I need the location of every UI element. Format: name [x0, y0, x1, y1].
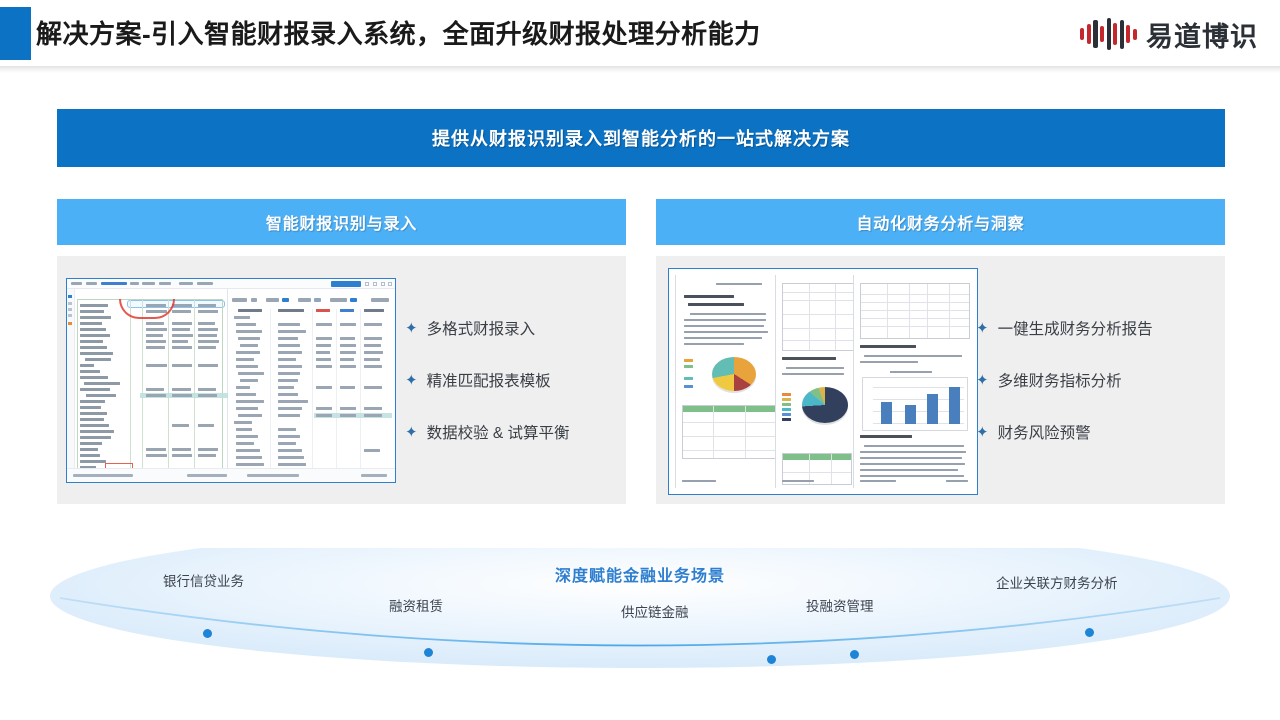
scenario-dot [1085, 628, 1094, 637]
app-status-bar [67, 468, 395, 482]
logo-text: 易道博识 [1146, 15, 1258, 54]
report-page-2 [775, 275, 854, 488]
column-analysis-body: ✦ 一健生成财务分析报告 ✦ 多维财务指标分析 ✦ 财务风险预警 [656, 256, 1225, 504]
report-table-4 [860, 283, 970, 339]
bar [927, 394, 938, 424]
scenario-label-supply-chain: 供应链金融 [621, 601, 689, 621]
scenario-label-investment: 投融资管理 [806, 595, 874, 615]
legend-swatch [782, 403, 791, 406]
legend-swatch [684, 377, 693, 380]
slide-root: 解决方案-引入智能财报录入系统，全面升级财报处理分析能力 易道博识 提供从财报识… [0, 0, 1280, 720]
statement-grid [77, 299, 223, 469]
source-document-pane [67, 289, 228, 483]
scenario-dot [203, 629, 212, 638]
bar [881, 402, 892, 424]
page-title: 解决方案-引入智能财报录入系统，全面升级财报处理分析能力 [36, 14, 936, 51]
page-thumbnail-rail[interactable] [67, 289, 75, 483]
recognition-feature-list: ✦ 多格式财报录入 ✦ 精准匹配报表模板 ✦ 数据校验 & 试算平衡 [405, 256, 570, 504]
list-item: ✦ 精准匹配报表模板 [405, 369, 570, 391]
result-filter-bar[interactable] [232, 298, 391, 304]
bar-chart-total-assets [862, 377, 968, 431]
header-accent-bar [0, 7, 31, 60]
result-table [232, 309, 391, 473]
logo-bars-icon [1080, 17, 1137, 51]
legend-swatch [684, 359, 693, 362]
diamond-bullet-icon: ✦ [976, 425, 989, 440]
legend-swatch [782, 413, 791, 416]
feature-label: 一健生成财务分析报告 [998, 317, 1153, 339]
bar [949, 387, 960, 424]
diamond-bullet-icon: ✦ [405, 425, 418, 440]
report-table-1 [682, 405, 776, 459]
list-item: ✦ 多格式财报录入 [405, 317, 570, 339]
solution-banner: 提供从财报识别录入到智能分析的一站式解决方案 [57, 109, 1225, 167]
list-item: ✦ 数据校验 & 试算平衡 [405, 421, 570, 443]
report-page-1 [675, 275, 776, 488]
diamond-bullet-icon: ✦ [976, 321, 989, 336]
feature-label: 精准匹配报表模板 [427, 369, 551, 391]
structured-result-pane [228, 289, 395, 483]
app-toolbar [67, 279, 395, 289]
legend-swatch [782, 418, 791, 421]
legend-swatch [782, 398, 791, 401]
list-item: ✦ 财务风险预警 [976, 421, 1153, 443]
report-table-2 [782, 283, 854, 351]
column-analysis-title: 自动化财务分析与洞察 [856, 210, 1024, 234]
scenario-label-leasing: 融资租赁 [389, 595, 443, 615]
report-page-3 [853, 275, 974, 488]
list-item: ✦ 一健生成财务分析报告 [976, 317, 1153, 339]
feature-label: 多维财务指标分析 [998, 369, 1122, 391]
slide-header: 解决方案-引入智能财报录入系统，全面升级财报处理分析能力 易道博识 [0, 0, 1280, 68]
legend-swatch [782, 408, 791, 411]
scenario-arc-section: 深度赋能金融业务场景 银行信贷业务 融资租赁 供应链金融 投融资管理 企业关联方… [0, 548, 1280, 678]
diamond-bullet-icon: ✦ [405, 373, 418, 388]
legend-swatch [782, 393, 791, 396]
diamond-bullet-icon: ✦ [405, 321, 418, 336]
legend-swatch [684, 365, 693, 368]
scenario-label-bank-credit: 银行信贷业务 [163, 570, 244, 590]
feature-label: 多格式财报录入 [427, 317, 536, 339]
column-recognition: 智能财报识别与录入 [57, 199, 626, 504]
pie-chart-current-assets [802, 387, 848, 423]
bar [905, 405, 916, 424]
app-primary-button[interactable] [331, 281, 361, 287]
feature-label: 数据校验 & 试算平衡 [427, 421, 570, 443]
column-analysis: 自动化财务分析与洞察 [656, 199, 1225, 504]
scenario-dot [850, 650, 859, 659]
column-recognition-title: 智能财报识别与录入 [266, 210, 417, 234]
list-item: ✦ 多维财务指标分析 [976, 369, 1153, 391]
solution-banner-text: 提供从财报识别录入到智能分析的一站式解决方案 [432, 125, 850, 151]
analysis-feature-list: ✦ 一健生成财务分析报告 ✦ 多维财务指标分析 ✦ 财务风险预警 [976, 256, 1153, 504]
legend-swatch [684, 385, 693, 388]
app-panes [67, 289, 395, 483]
analysis-report-screenshot [668, 268, 978, 495]
scenario-dot [767, 655, 776, 664]
bar-chart-title [890, 371, 932, 373]
feature-label: 财务风险预警 [998, 421, 1091, 443]
header-divider [0, 66, 1280, 73]
pie-chart-asset-structure [712, 357, 756, 391]
brand-logo: 易道博识 [1080, 14, 1258, 54]
financial-entry-screenshot [66, 278, 396, 483]
scenario-dot [424, 648, 433, 657]
column-recognition-header: 智能财报识别与录入 [57, 199, 626, 245]
column-analysis-header: 自动化财务分析与洞察 [656, 199, 1225, 245]
diamond-bullet-icon: ✦ [976, 373, 989, 388]
scenario-label-related-party: 企业关联方财务分析 [996, 572, 1118, 592]
column-recognition-body: ✦ 多格式财报录入 ✦ 精准匹配报表模板 ✦ 数据校验 & 试算平衡 [57, 256, 626, 504]
